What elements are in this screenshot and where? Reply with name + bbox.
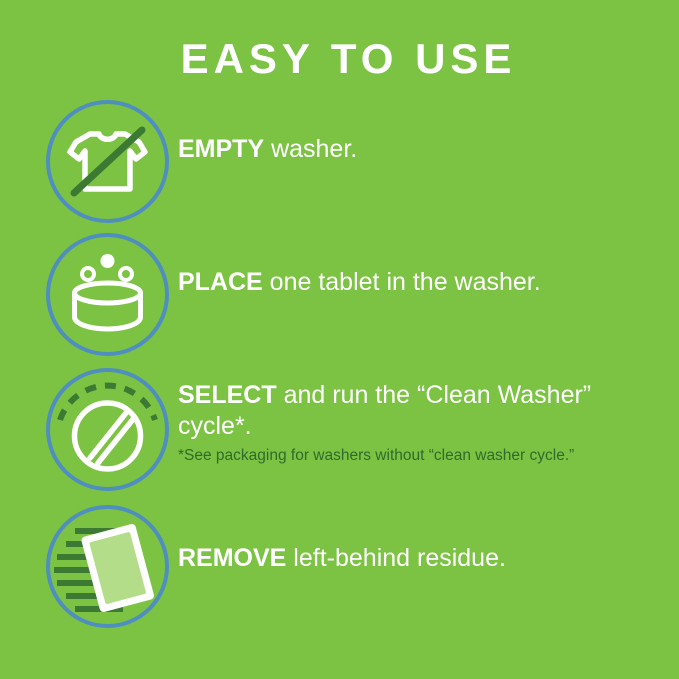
step-3-text: SELECT and run the “Clean Washer” cycle*… — [178, 380, 658, 465]
list-item: SELECT and run the “Clean Washer” cycle*… — [0, 368, 679, 498]
step-3-icon — [46, 368, 169, 491]
page-title: EASY TO USE — [0, 36, 679, 82]
step-2-text: PLACE one tablet in the washer. — [178, 267, 658, 298]
wipe-cloth-icon — [46, 505, 169, 628]
list-item: REMOVE left-behind residue. — [0, 505, 679, 635]
step-rest: left-behind residue. — [286, 544, 506, 572]
step-rest: washer. — [264, 135, 357, 163]
step-lead: EMPTY — [178, 135, 264, 163]
step-lead: REMOVE — [178, 544, 286, 572]
bubble-filled-icon — [101, 254, 115, 268]
step-text-line: PLACE one tablet in the washer. — [178, 267, 658, 298]
step-1-icon — [46, 100, 169, 223]
cloth-shape-icon — [81, 523, 155, 613]
step-4-text: REMOVE left-behind residue. — [178, 543, 658, 574]
tshirt-crossed-out-icon — [46, 100, 169, 223]
bubble-outline-icon — [82, 268, 94, 280]
tablet-dial-icon — [46, 368, 169, 491]
tablet-with-bubbles-icon — [46, 233, 169, 356]
step-text-line: REMOVE left-behind residue. — [178, 543, 658, 574]
step-footnote: *See packaging for washers without “clea… — [178, 447, 598, 466]
step-lead: PLACE — [178, 268, 263, 296]
step-lead: SELECT — [178, 381, 277, 409]
list-item: EMPTY washer. — [0, 100, 679, 230]
step-1-text: EMPTY washer. — [178, 134, 658, 165]
step-text-line: SELECT and run the “Clean Washer” cycle*… — [178, 380, 658, 443]
bubble-outline-icon — [120, 268, 132, 280]
step-rest: one tablet in the washer. — [263, 268, 541, 296]
step-text-line: EMPTY washer. — [178, 134, 658, 165]
easy-to-use-poster: EASY TO USE EMPTY washer. — [0, 0, 679, 679]
step-4-icon — [46, 505, 169, 628]
step-2-icon — [46, 233, 169, 356]
list-item: PLACE one tablet in the washer. — [0, 233, 679, 363]
